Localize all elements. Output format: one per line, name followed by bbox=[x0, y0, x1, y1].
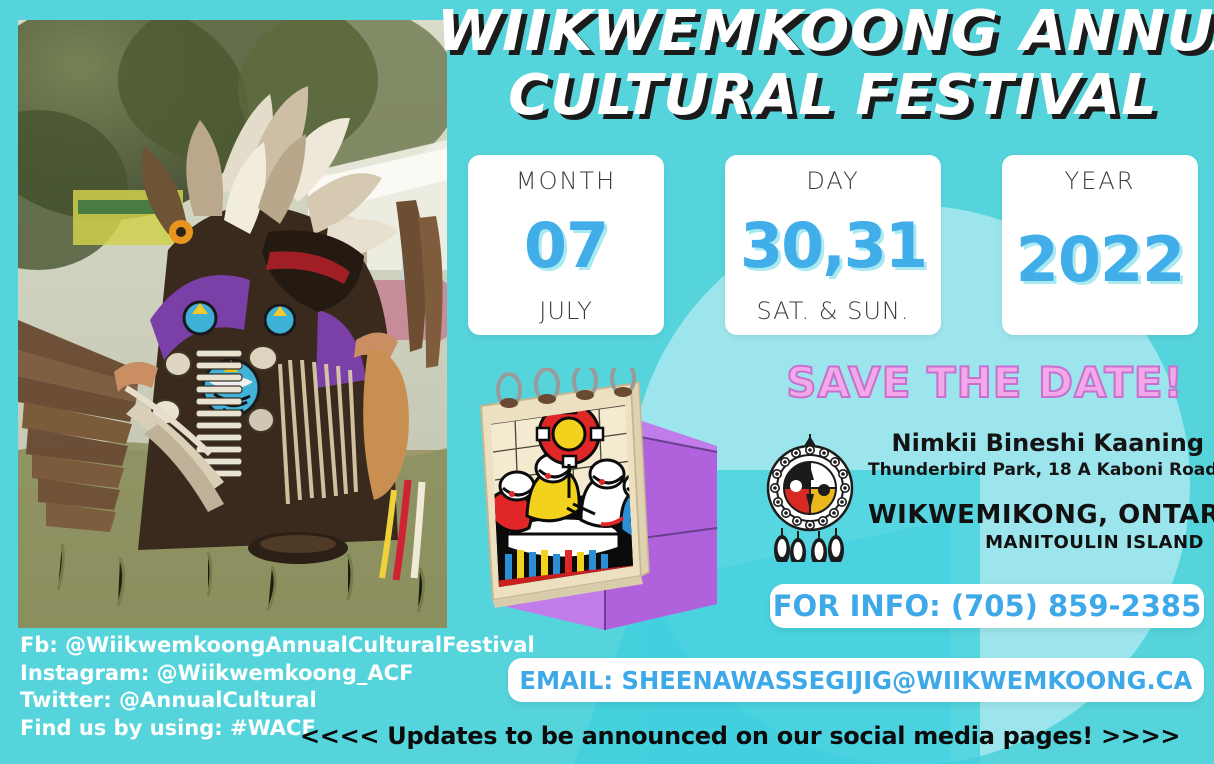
poster-root: WIIKWEMKOONG ANNUAL CULTURAL FESTIVAL MO… bbox=[0, 0, 1214, 764]
phone-info-pill[interactable]: FOR INFO: (705) 859-2385 bbox=[770, 584, 1204, 628]
date-cards: MONTH 07 JULY DAY 30,31 SAT. & SUN. YEAR… bbox=[468, 155, 1198, 335]
social-instagram: Instagram: @Wiikwemkoong_ACF bbox=[20, 660, 520, 688]
festival-photo bbox=[18, 20, 447, 628]
social-twitter: Twitter: @AnnualCultural bbox=[20, 687, 520, 715]
day-value: 30,31 bbox=[740, 215, 926, 277]
title-line-2: CULTURAL FESTIVAL bbox=[452, 70, 1214, 122]
month-sub: JULY bbox=[539, 297, 593, 325]
venue-name: Nimkii Bineshi Kaaning bbox=[868, 430, 1204, 458]
year-value: 2022 bbox=[1016, 229, 1185, 291]
updates-banner: <<<< Updates to be announced on our soci… bbox=[300, 722, 1180, 750]
year-label: YEAR bbox=[1065, 167, 1136, 195]
venue-text: Nimkii Bineshi Kaaning Thunderbird Park,… bbox=[868, 430, 1204, 553]
medicine-wheel-medallion-icon bbox=[764, 432, 856, 562]
venue-city: WIKWEMIKONG, ONTARIO bbox=[868, 500, 1204, 530]
date-card-day: DAY 30,31 SAT. & SUN. bbox=[725, 155, 941, 335]
poster-title: WIIKWEMKOONG ANNUAL CULTURAL FESTIVAL bbox=[452, 6, 1214, 121]
date-card-year: YEAR 2022 bbox=[1002, 155, 1198, 335]
venue-region: MANITOULIN ISLAND bbox=[868, 532, 1204, 553]
phone-info-text: FOR INFO: (705) 859-2385 bbox=[773, 589, 1202, 623]
calendar-illustration bbox=[455, 368, 755, 638]
month-value: 07 bbox=[524, 215, 608, 277]
social-facebook: Fb: @WiikwemkoongAnnualCulturalFestival bbox=[20, 632, 520, 660]
date-card-month: MONTH 07 JULY bbox=[468, 155, 664, 335]
venue-address: Thunderbird Park, 18 A Kaboni Road bbox=[868, 460, 1204, 480]
day-label: DAY bbox=[806, 167, 859, 195]
email-pill[interactable]: EMAIL: SHEENAWASSEGIJIG@WIIKWEMKOONG.CA bbox=[508, 658, 1204, 702]
day-sub: SAT. & SUN. bbox=[756, 297, 909, 325]
save-the-date-heading: SAVE THE DATE! bbox=[760, 358, 1210, 407]
venue-block: Nimkii Bineshi Kaaning Thunderbird Park,… bbox=[762, 420, 1202, 570]
month-label: MONTH bbox=[516, 167, 616, 195]
email-text: EMAIL: SHEENAWASSEGIJIG@WIIKWEMKOONG.CA bbox=[520, 666, 1193, 695]
title-line-1: WIIKWEMKOONG ANNUAL bbox=[437, 6, 1214, 58]
